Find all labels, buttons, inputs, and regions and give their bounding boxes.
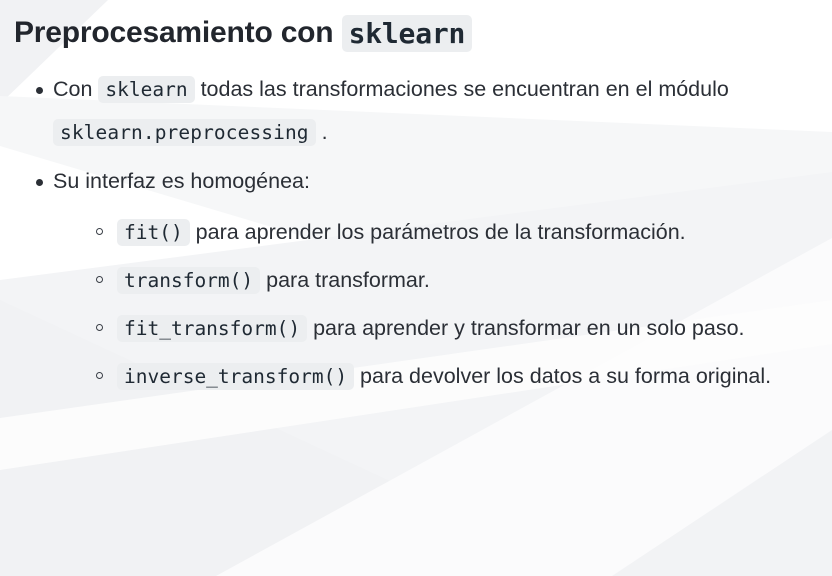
subbullet-2-text: para transformar. (260, 268, 430, 292)
subbullet-4-code-chip: inverse_transform() (117, 363, 354, 390)
subbullet-item-inverse-transform: inverse_transform() para devolver los da… (74, 353, 818, 399)
subbullet-4-text: para devolver los datos a su forma origi… (354, 364, 771, 388)
bullet-1-code-chip-preprocessing: sklearn.preprocessing (53, 119, 316, 146)
bullet-item-interfaz: Su interfaz es homogénea: (14, 160, 818, 203)
bullet-list: Con sklearn todas las transformaciones s… (14, 68, 818, 203)
subbullet-item-transform: transform() para transformar. (74, 257, 818, 303)
subbullet-1-text: para aprender los parámetros de la trans… (190, 220, 686, 244)
subbullet-1-code-chip: fit() (117, 219, 190, 246)
bullet-1-code-chip-sklearn: sklearn (98, 76, 194, 103)
bullet-2-segment-1: Su interfaz es homogénea: (53, 169, 310, 193)
subbullet-3-code-chip: fit_transform() (117, 315, 307, 342)
subbullet-item-fit: fit() para aprender los parámetros de la… (74, 209, 818, 255)
bullet-1-segment-1: Con (53, 77, 98, 101)
subbullet-3-text: para aprender y transformar en un solo p… (307, 316, 744, 340)
bullet-1-segment-3: . (316, 120, 328, 144)
bullet-1-segment-2: todas las transformaciones se encuentran… (195, 77, 729, 101)
subbullet-2-code-chip: transform() (117, 267, 260, 294)
page-title-text: Preprocesamiento con (14, 16, 342, 49)
slide-content: Preprocesamiento con sklearn Con sklearn… (0, 0, 832, 399)
subbullet-item-fit-transform: fit_transform() para aprender y transfor… (74, 305, 818, 351)
bullet-item-modulo: Con sklearn todas las transformaciones s… (14, 68, 818, 154)
page-title: Preprocesamiento con sklearn (14, 14, 818, 52)
background-band-corner-bottom-right (612, 430, 832, 576)
subbullet-list: fit() para aprender los parámetros de la… (74, 209, 818, 399)
sub-list-wrapper: fit() para aprender los parámetros de la… (14, 209, 818, 399)
page-title-code-chip: sklearn (342, 15, 473, 52)
